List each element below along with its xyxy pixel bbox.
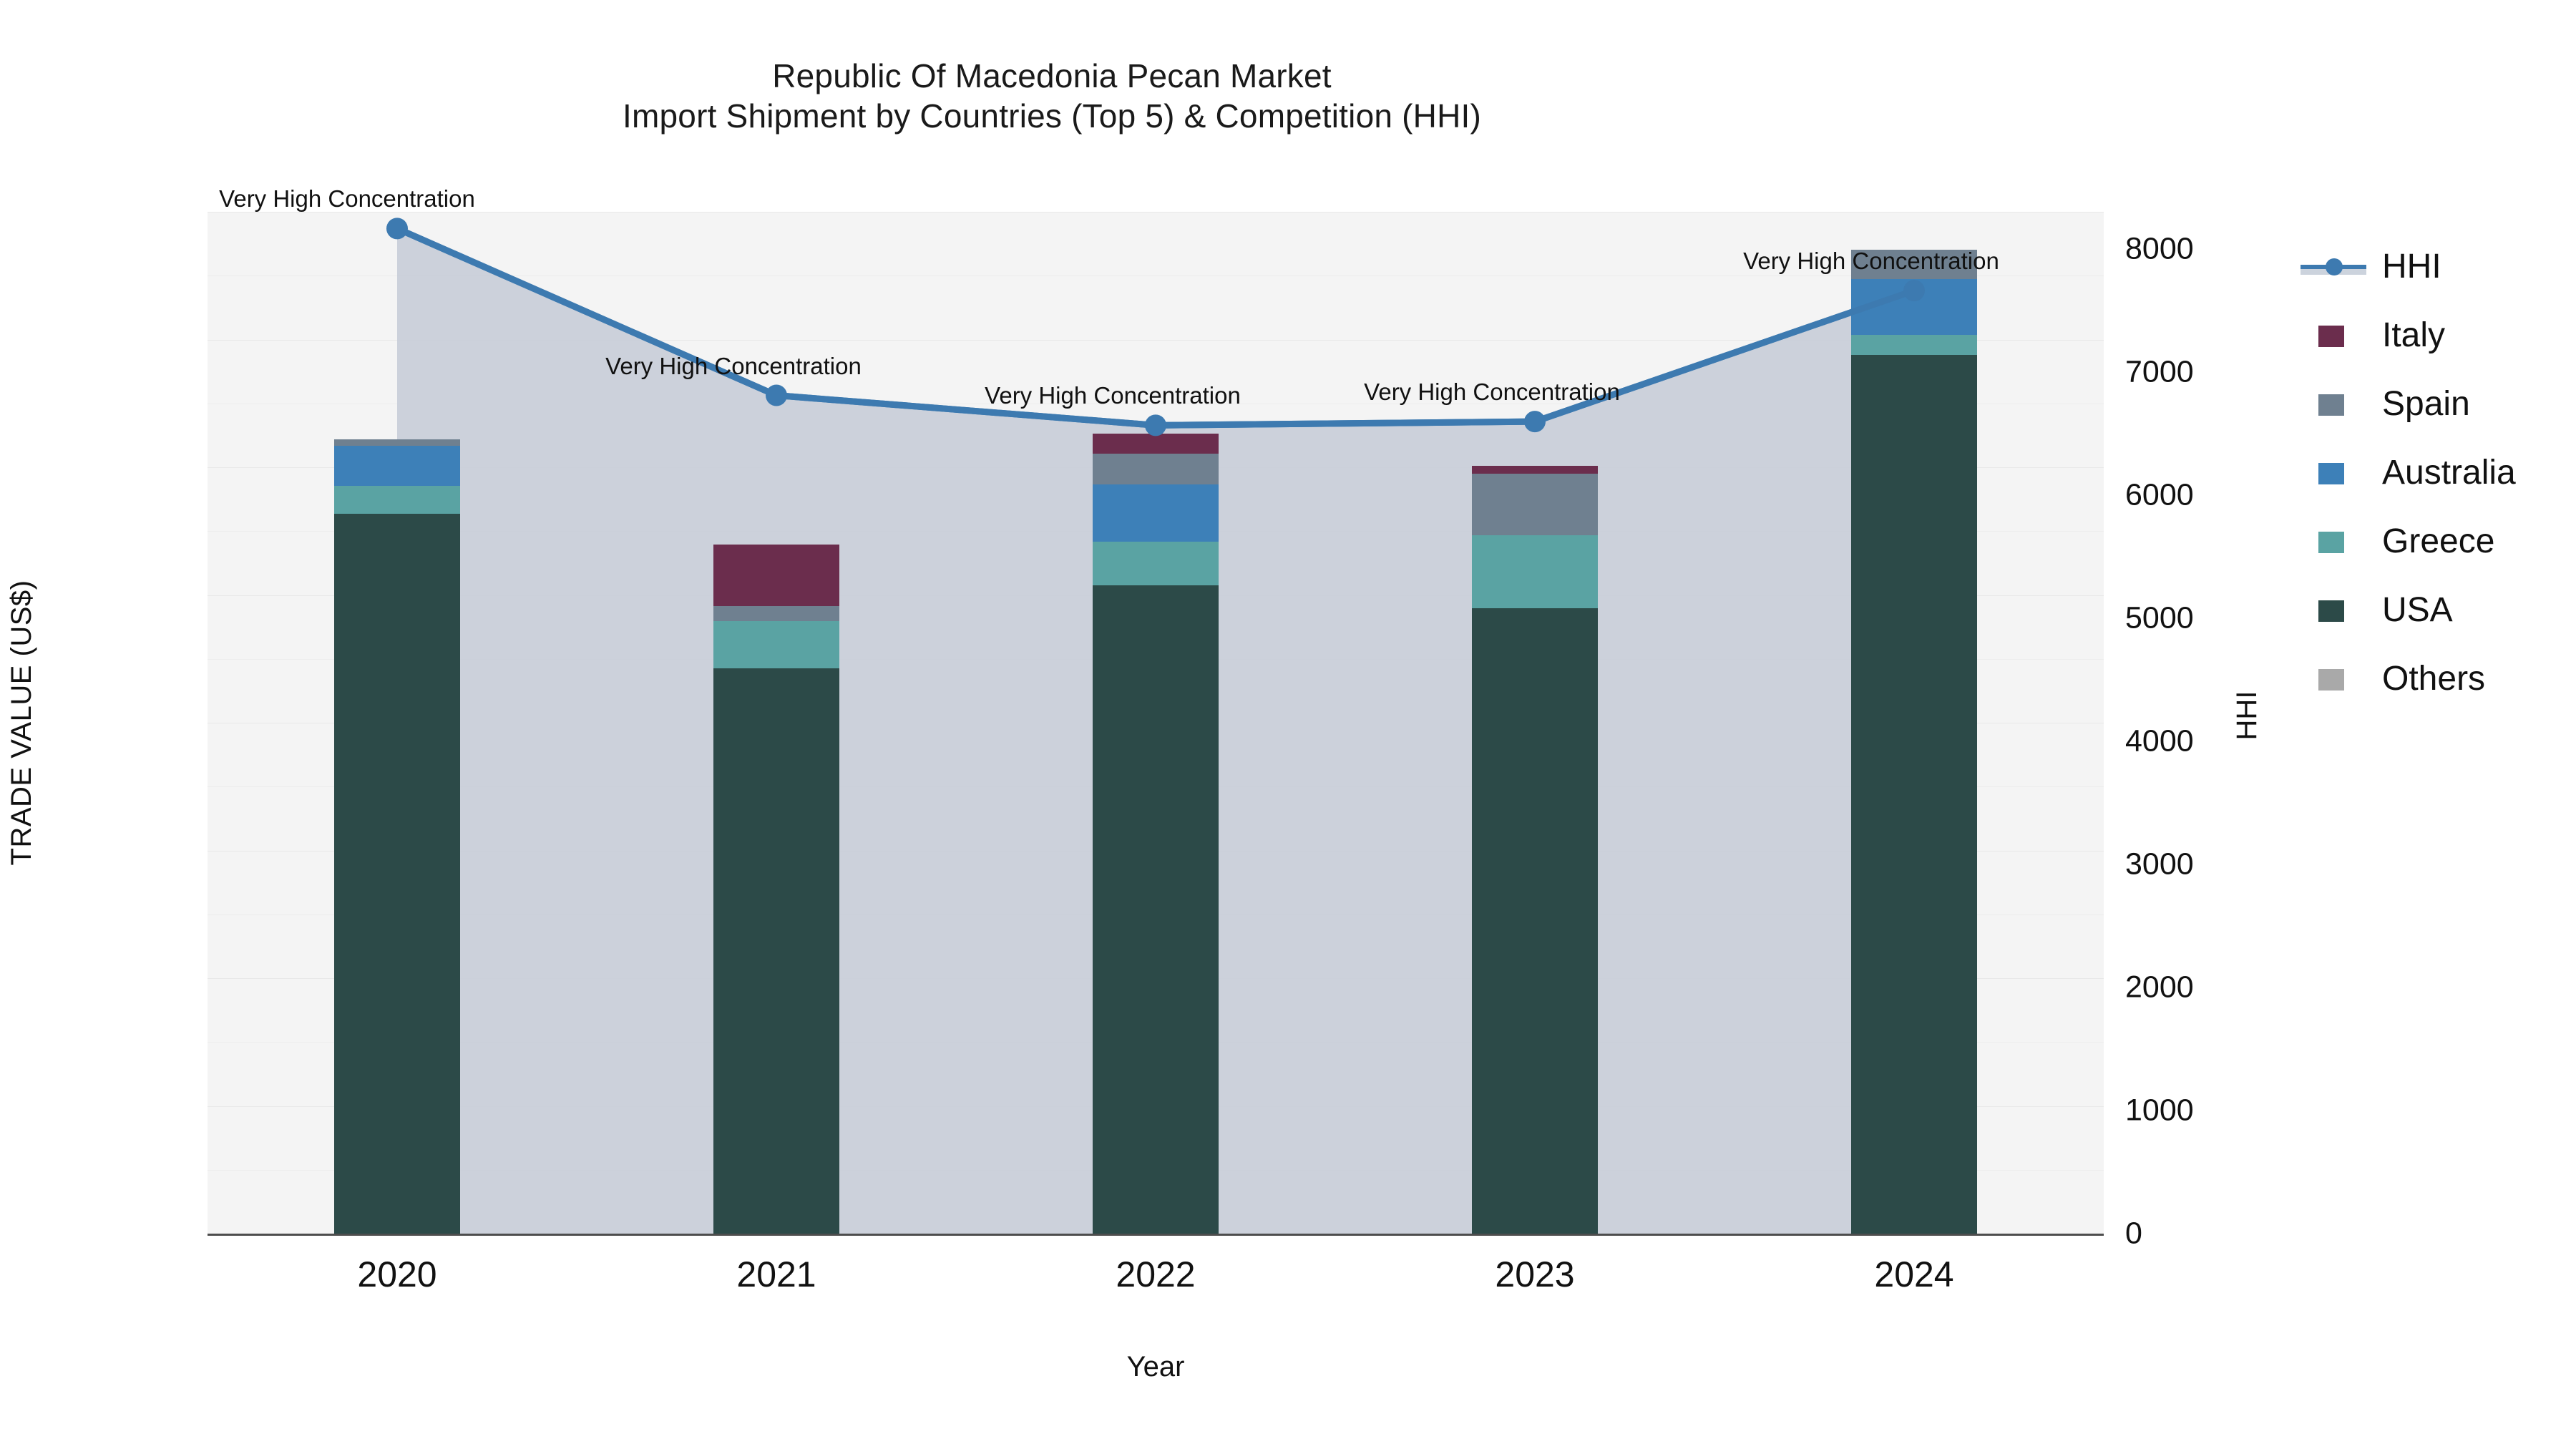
bar-segment-greece[interactable] [713, 621, 839, 668]
bar-2021[interactable] [713, 545, 839, 1234]
legend-swatch-icon [2318, 463, 2344, 484]
y-tick-right: 0 [2125, 1216, 2142, 1252]
chart-title-line-2: Import Shipment by Countries (Top 5) & C… [0, 96, 2104, 136]
legend-label: USA [2382, 593, 2453, 628]
x-tick-2020: 2020 [357, 1254, 436, 1295]
legend-label: HHI [2382, 250, 2441, 284]
x-tick-2023: 2023 [1495, 1254, 1574, 1295]
legend-key-spain-icon [2301, 389, 2366, 420]
legend-key-usa-icon [2301, 595, 2366, 626]
y-tick-right: 6000 [2125, 477, 2194, 512]
legend-item-usa[interactable]: USA [2301, 576, 2572, 645]
annotation-2021: Very High Concentration [605, 353, 862, 380]
legend: HHIItalySpainAustraliaGreeceUSAOthers [2301, 233, 2572, 713]
y-axis-right-title: HHI [2231, 691, 2263, 741]
x-axis-line [208, 1234, 2104, 1236]
y-tick-right: 7000 [2125, 354, 2194, 389]
hhi-point-2020[interactable] [386, 218, 408, 239]
legend-item-others[interactable]: Others [2301, 645, 2572, 713]
legend-swatch-icon [2318, 394, 2344, 416]
annotation-2022: Very High Concentration [985, 382, 1241, 409]
x-tick-2022: 2022 [1116, 1254, 1195, 1295]
y-tick-right: 1000 [2125, 1093, 2194, 1128]
legend-label: Others [2382, 662, 2485, 696]
y-tick-right: 5000 [2125, 600, 2194, 635]
plot-area [208, 212, 2104, 1234]
bar-segment-usa[interactable] [334, 514, 460, 1234]
bar-segment-australia[interactable] [1851, 279, 1977, 335]
legend-marker-dot-icon [2326, 258, 2343, 275]
bar-segment-spain[interactable] [1093, 454, 1219, 484]
legend-swatch-icon [2318, 326, 2344, 347]
y-tick-right: 4000 [2125, 723, 2194, 758]
y-axis-right-title-wrap: HHI [2225, 644, 2268, 787]
bar-2024[interactable] [1851, 250, 1977, 1234]
bar-segment-spain[interactable] [713, 606, 839, 620]
y-tick-right: 3000 [2125, 847, 2194, 882]
legend-item-italy[interactable]: Italy [2301, 301, 2572, 370]
bar-segment-greece[interactable] [334, 486, 460, 514]
legend-label: Spain [2382, 387, 2470, 421]
gridline [208, 275, 2104, 276]
bar-segment-spain[interactable] [334, 439, 460, 445]
bar-segment-italy[interactable] [1093, 434, 1219, 453]
bar-segment-australia[interactable] [334, 446, 460, 487]
legend-key-greece-icon [2301, 526, 2366, 557]
y-axis-left-title-wrap: TRADE VALUE (US$) [0, 212, 43, 1234]
bar-2022[interactable] [1093, 434, 1219, 1234]
legend-label: Australia [2382, 456, 2516, 490]
bar-2020[interactable] [334, 439, 460, 1234]
legend-key-italy-icon [2301, 320, 2366, 351]
legend-item-spain[interactable]: Spain [2301, 370, 2572, 439]
bar-segment-greece[interactable] [1472, 535, 1598, 609]
bar-segment-italy[interactable] [1472, 466, 1598, 474]
bar-segment-usa[interactable] [1093, 585, 1219, 1234]
bar-segment-italy[interactable] [713, 545, 839, 606]
legend-key-hhi-icon [2301, 251, 2366, 283]
bar-2023[interactable] [1472, 466, 1598, 1234]
legend-swatch-icon [2318, 600, 2344, 622]
gridline [208, 212, 2104, 213]
annotation-2023: Very High Concentration [1364, 379, 1620, 406]
hhi-point-2023[interactable] [1524, 411, 1546, 432]
chart-root: Republic Of Macedonia Pecan Market Impor… [0, 0, 2576, 1449]
legend-swatch-icon [2318, 532, 2344, 553]
bar-segment-spain[interactable] [1472, 474, 1598, 535]
legend-item-australia[interactable]: Australia [2301, 439, 2572, 507]
legend-label: Italy [2382, 318, 2445, 353]
gridline [208, 340, 2104, 341]
bar-segment-greece[interactable] [1093, 542, 1219, 585]
chart-title: Republic Of Macedonia Pecan Market Impor… [0, 56, 2104, 136]
x-tick-2021: 2021 [736, 1254, 816, 1295]
y-tick-right: 8000 [2125, 231, 2194, 266]
bar-segment-usa[interactable] [1472, 608, 1598, 1234]
y-axis-left-title: TRADE VALUE (US$) [6, 580, 38, 866]
legend-swatch-icon [2318, 669, 2344, 691]
legend-label: Greece [2382, 525, 2494, 559]
legend-key-australia-icon [2301, 457, 2366, 489]
legend-item-hhi[interactable]: HHI [2301, 233, 2572, 301]
bar-segment-australia[interactable] [1093, 484, 1219, 542]
x-tick-2024: 2024 [1874, 1254, 1953, 1295]
legend-key-others-icon [2301, 663, 2366, 695]
bar-segment-usa[interactable] [1851, 355, 1977, 1234]
annotation-2024: Very High Concentration [1743, 248, 1999, 275]
annotation-2020: Very High Concentration [219, 185, 475, 213]
bar-segment-greece[interactable] [1851, 335, 1977, 356]
bar-segment-usa[interactable] [713, 668, 839, 1234]
chart-title-line-1: Republic Of Macedonia Pecan Market [0, 56, 2104, 96]
y-tick-right: 2000 [2125, 970, 2194, 1005]
x-axis-title: Year [1127, 1351, 1185, 1383]
legend-item-greece[interactable]: Greece [2301, 507, 2572, 576]
hhi-point-2022[interactable] [1145, 414, 1166, 436]
